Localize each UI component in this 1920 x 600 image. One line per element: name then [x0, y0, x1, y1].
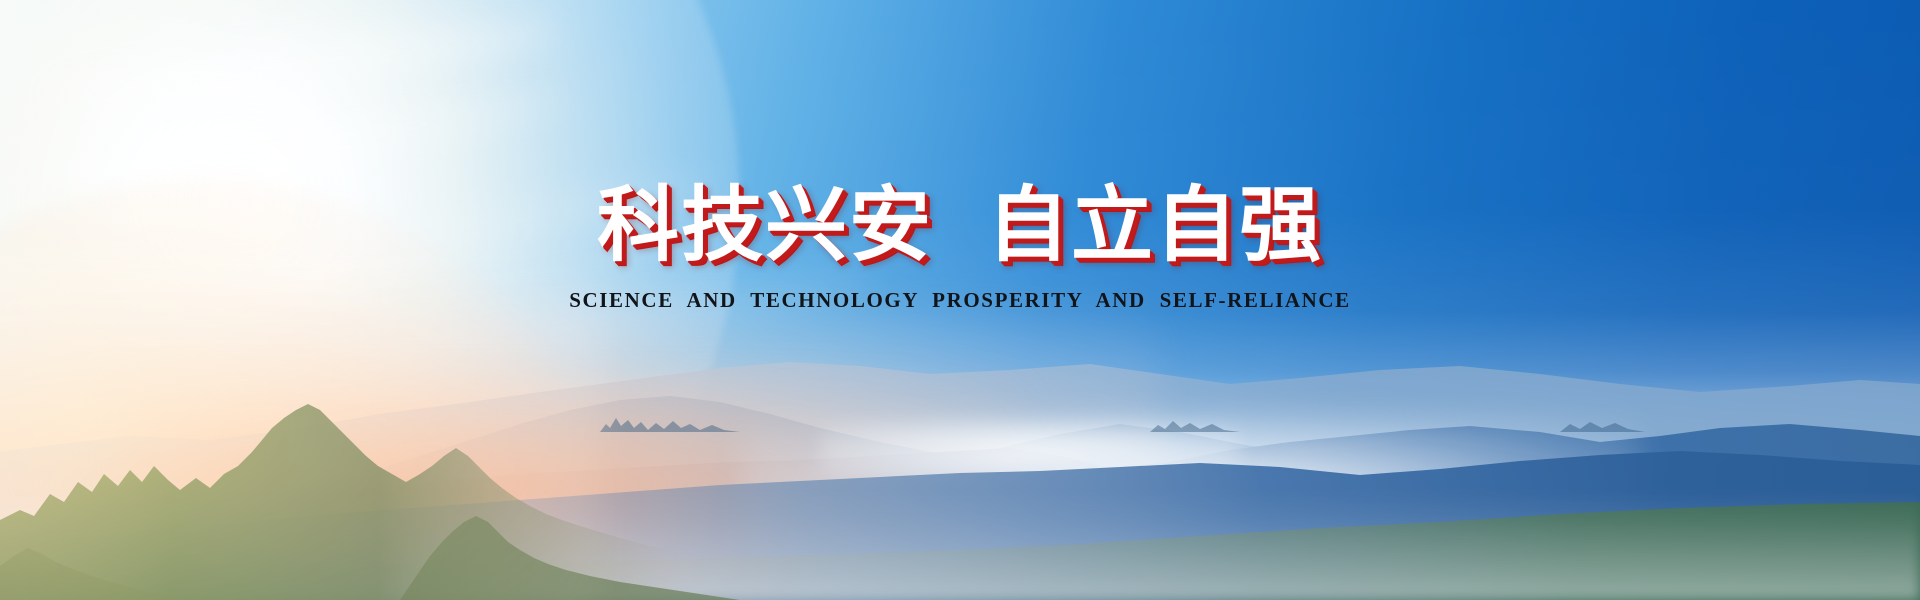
page-subtitle: SCIENCE AND TECHNOLOGY PROSPERITY AND SE…: [0, 288, 1920, 313]
headline-part-2: 自立自强: [987, 178, 1323, 273]
page-title: 科技兴安自立自强: [0, 178, 1920, 274]
hero-banner: 科技兴安自立自强 SCIENCE AND TECHNOLOGY PROSPERI…: [0, 0, 1920, 600]
banner-text-block: 科技兴安自立自强 SCIENCE AND TECHNOLOGY PROSPERI…: [0, 178, 1920, 313]
headline-part-1: 科技兴安: [597, 178, 933, 273]
